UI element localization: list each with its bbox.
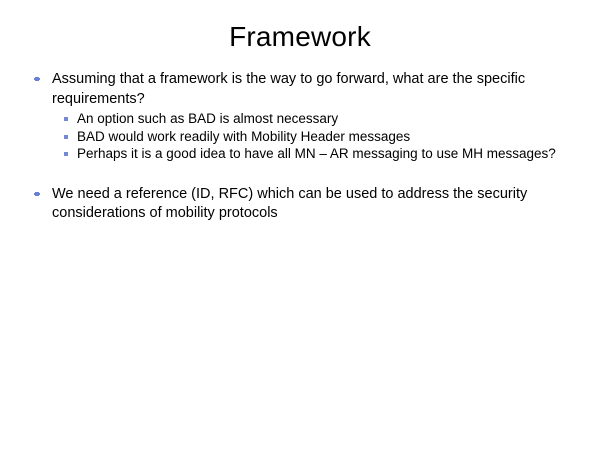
page-title: Framework (0, 20, 600, 54)
sub-bullet-marker-icon (64, 135, 68, 139)
bullet-item-level2: BAD would work readily with Mobility Hea… (0, 128, 600, 146)
bullet-item-level1: Assuming that a framework is the way to … (0, 70, 600, 109)
sub-bullet-marker-icon (64, 117, 68, 121)
bullet-item-level2: An option such as BAD is almost necessar… (0, 110, 600, 128)
bullet-text: Assuming that a framework is the way to … (52, 71, 529, 107)
paragraph-spacer (0, 163, 600, 185)
sub-bullet-marker-icon (64, 152, 68, 156)
bullet-text: An option such as BAD is almost necessar… (77, 111, 338, 126)
bullet-item-level2: Perhaps it is a good idea to have all MN… (0, 145, 600, 163)
bullet-item-level1: We need a reference (ID, RFC) which can … (0, 185, 600, 224)
bullet-marker-icon (35, 77, 39, 81)
presentation-slide: Framework Assuming that a framework is t… (0, 0, 600, 450)
bullet-marker-icon (35, 192, 39, 196)
bullet-text: BAD would work readily with Mobility Hea… (77, 129, 410, 144)
slide-body-content: Assuming that a framework is the way to … (0, 70, 600, 224)
bullet-text: Perhaps it is a good idea to have all MN… (77, 146, 556, 161)
sub-bullet-group: An option such as BAD is almost necessar… (0, 110, 600, 163)
bullet-text: We need a reference (ID, RFC) which can … (52, 186, 531, 222)
